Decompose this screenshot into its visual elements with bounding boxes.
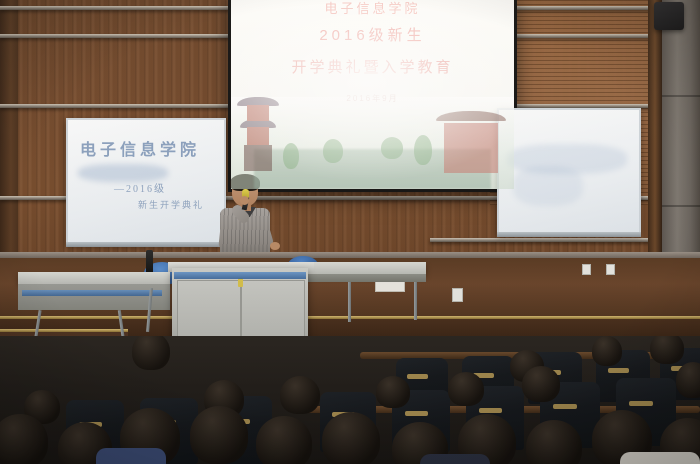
- tree-icon: [381, 137, 403, 159]
- console-lock-icon[interactable]: [238, 278, 243, 287]
- tree-icon: [414, 135, 432, 165]
- auditorium-photo: 电子信息学院 2016级新生 开学典礼暨入学教育 2016年9月 电子信息学院 …: [0, 0, 700, 464]
- marker-smudge: [78, 164, 168, 182]
- audience-head: [650, 336, 684, 364]
- slide-line-cohort: 2016级新生: [231, 24, 514, 45]
- audience-head: [592, 336, 622, 366]
- audience-head: [448, 372, 484, 406]
- whiteboard-marker-tray: [66, 242, 226, 247]
- audience-shoulders: [96, 448, 166, 464]
- pavilion-building-icon: [436, 111, 506, 177]
- presenter-hand-right: [270, 242, 280, 250]
- slide-line-event: 开学典礼暨入学教育: [231, 56, 514, 77]
- wall-outlet-icon: [582, 264, 591, 275]
- tree-icon: [283, 143, 299, 169]
- keyboard-tray: [22, 290, 162, 296]
- projection-screen-surface: 电子信息学院 2016级新生 开学典礼暨入学教育 2016年9月: [231, 0, 514, 189]
- whiteboard-left[interactable]: 电子信息学院 —2016级 新生开学典礼: [66, 118, 226, 244]
- whiteboard-marker-tray: [497, 232, 641, 237]
- audience-head: [522, 366, 560, 402]
- wall-outlet-icon: [452, 288, 463, 302]
- microphone-stand: [146, 250, 153, 274]
- audience-shoulders: [620, 452, 700, 464]
- side-desk-right-body: [306, 274, 426, 282]
- audience-head: [280, 376, 320, 414]
- desk-leg: [348, 282, 351, 322]
- wall-outlet-icon: [606, 264, 615, 275]
- slide-line-institution: 电子信息学院: [231, 0, 514, 17]
- slide-date: 2016年9月: [231, 93, 514, 104]
- audience-head: [256, 416, 312, 464]
- left-wall-column: [0, 0, 18, 268]
- whiteboard-title-text: 电子信息学院: [80, 136, 200, 160]
- loudspeaker-icon: [654, 2, 684, 30]
- desk-leg: [414, 282, 417, 320]
- audience-shoulders: [420, 454, 490, 464]
- side-desk-left-body: [18, 284, 170, 310]
- audience-head: [322, 412, 380, 464]
- audience-head: [376, 376, 410, 408]
- slide-text-block: 电子信息学院 2016级新生 开学典礼暨入学教育 2016年9月: [231, 0, 514, 104]
- seated-audience: [0, 336, 700, 464]
- side-desk-right: [306, 262, 426, 274]
- step-brass-edge: [0, 329, 128, 332]
- pagoda-tower-icon: [241, 97, 275, 171]
- console-blue-accent: [174, 272, 306, 279]
- whiteboard-event-text: 新生开学典礼: [138, 198, 204, 211]
- presenter-hand: [240, 196, 249, 205]
- marker-smudge: [513, 166, 583, 206]
- audience-head: [190, 406, 248, 464]
- whiteboard-right[interactable]: [497, 108, 641, 234]
- audience-head: [676, 362, 700, 398]
- side-desk-left: [18, 272, 170, 284]
- tree-icon: [323, 139, 343, 163]
- projection-screen[interactable]: 电子信息学院 2016级新生 开学典礼暨入学教育 2016年9月: [228, 0, 517, 192]
- whiteboard-cohort-text: —2016级: [114, 180, 166, 195]
- audience-head: [132, 336, 170, 370]
